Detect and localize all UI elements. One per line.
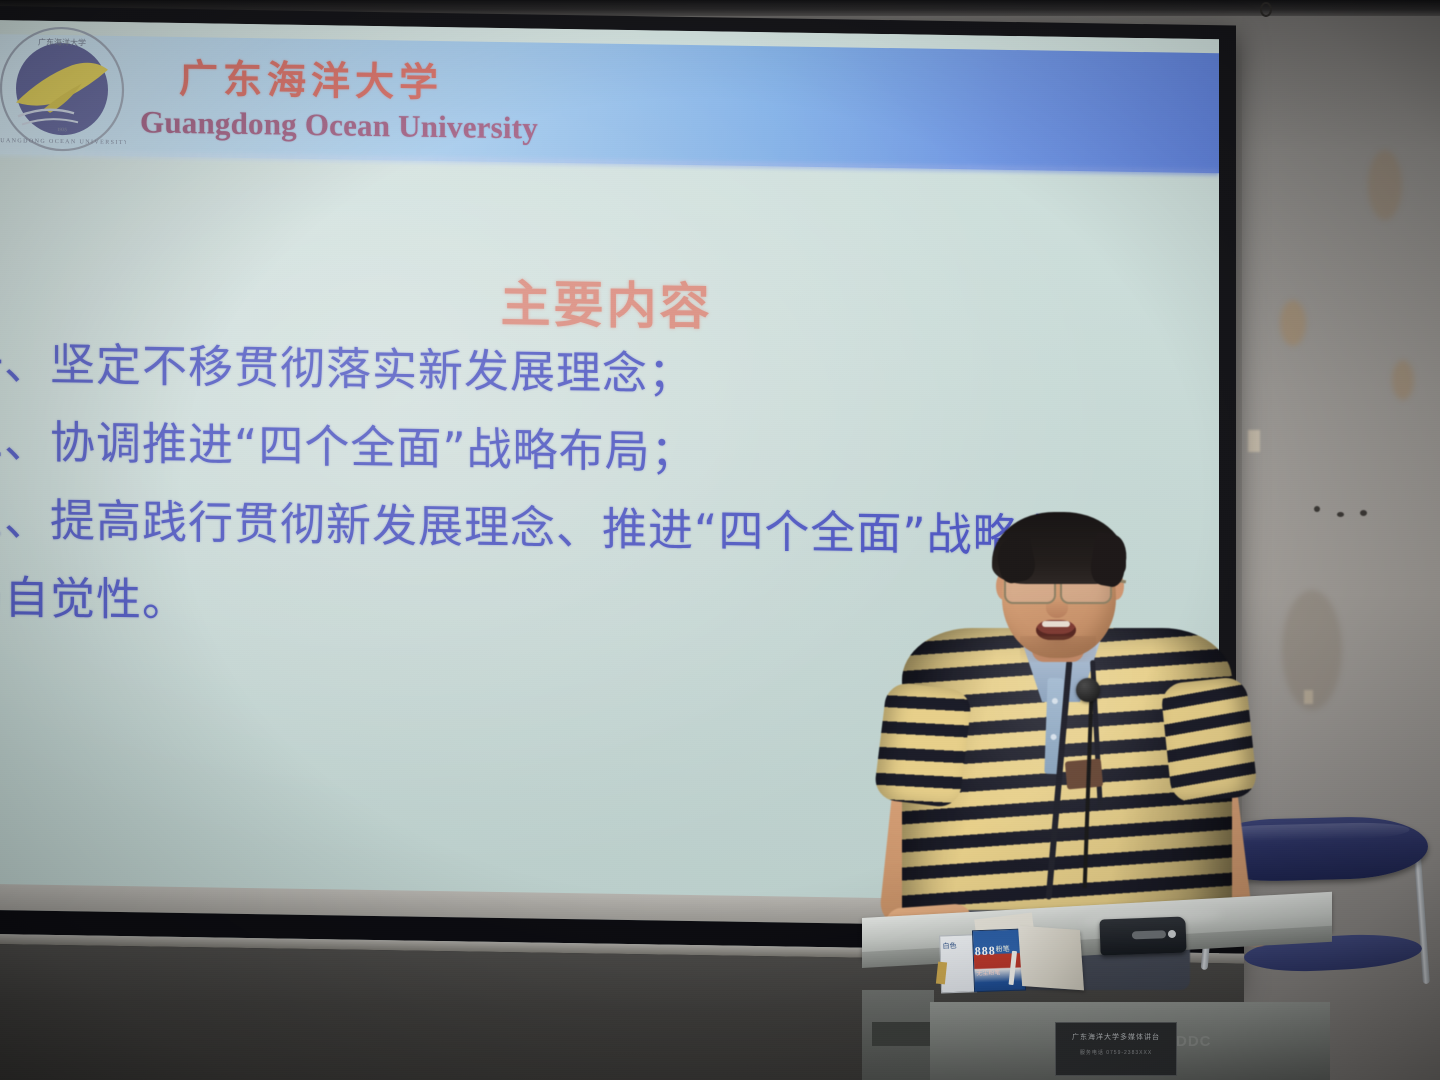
chalk-box[interactable]: 白色 888 粉笔 无尘粉笔: [939, 929, 1025, 992]
wall-paint-chip: [1248, 430, 1260, 452]
lapel-microphone-icon: [1076, 678, 1100, 702]
university-name-en: Guangdong Ocean University: [140, 104, 538, 146]
podium-info-plate: 广东海洋大学多媒体讲台 服务电话 0759-2383XXX: [1055, 1022, 1177, 1076]
wall-stain: [1368, 150, 1402, 220]
wall-stain: [1282, 590, 1342, 710]
presenter-left-sleeve: [873, 681, 973, 809]
presenter-chin-shadow: [1020, 636, 1096, 662]
folded-paper[interactable]: [1018, 926, 1084, 991]
svg-text:广东海洋大学: 广东海洋大学: [38, 37, 86, 48]
svg-text:GUANGDONG OCEAN UNIVERSITY: GUANGDONG OCEAN UNIVERSITY: [0, 138, 126, 146]
university-crest-icon: 广东海洋大学 GUANGDONG OCEAN UNIVERSITY 1935: [0, 24, 126, 154]
wall-stain: [1392, 360, 1414, 400]
chalk-box-cn-text-2: 无尘粉笔: [976, 967, 1000, 977]
black-remote-device[interactable]: [1099, 917, 1186, 956]
chalk-box-cn-text: 粉笔: [995, 944, 1009, 954]
lecture-photo-scene: 广东海洋大学 GUANGDONG OCEAN UNIVERSITY 1935 广…: [0, 0, 1440, 1080]
podium-brand-text: DDC: [1176, 1033, 1212, 1050]
svg-text:1935: 1935: [57, 128, 67, 133]
wall-stain: [1280, 300, 1306, 346]
podium-plate-line-1: 广东海洋大学多媒体讲台: [1056, 1032, 1176, 1042]
chalk-box-number: 888: [974, 944, 996, 960]
presenter-hair: [992, 512, 1126, 584]
presenter-right-sleeve: [1160, 676, 1258, 804]
wall-mark: [1337, 512, 1344, 517]
wall-mark: [1314, 506, 1320, 512]
chalk-box-left-text: 白色: [942, 941, 956, 951]
wall-paint-chip: [1304, 690, 1313, 704]
lanyard-badge: [1065, 758, 1103, 789]
podium-plate-line-2: 服务电话 0759-2383XXX: [1056, 1049, 1176, 1056]
ceiling-hook-icon: [1259, 2, 1269, 28]
university-name-cn: 广东海洋大学: [179, 48, 443, 108]
podium-shelf: [872, 1022, 930, 1046]
wall-mark: [1360, 510, 1367, 516]
